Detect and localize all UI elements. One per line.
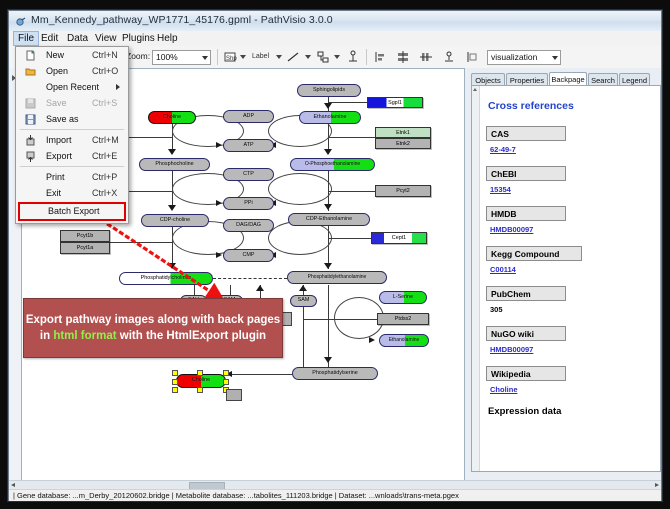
file-menu-item-save-as[interactable]: Save as	[16, 111, 128, 127]
file-menu-accel-new: Ctrl+N	[92, 50, 118, 60]
node-cdp-ethanolamine[interactable]: CDP-Ethanolamine	[288, 213, 370, 226]
annotation-callout: Export pathway images along with back pa…	[23, 298, 283, 358]
xref-value-hmdb[interactable]: HMDB00097	[490, 225, 654, 234]
file-menu-item-export[interactable]: Export Ctrl+E	[16, 148, 128, 164]
pathvisio-window: Mm_Kennedy_pathway_WP1771_45176.gpml - P…	[8, 10, 662, 501]
arc-right-3	[268, 221, 332, 255]
node-sphingolipids[interactable]: Sphingolipids	[297, 84, 361, 97]
file-menu-item-exit[interactable]: Exit Ctrl+X	[16, 185, 128, 201]
file-menu-item-import[interactable]: Import Ctrl+M	[16, 132, 128, 148]
file-menu-separator-1	[20, 129, 124, 130]
file-menu-item-new[interactable]: New Ctrl+N	[16, 47, 128, 63]
node-o-phosphoethanolamine[interactable]: O-Phosphoethanolamine	[290, 158, 375, 171]
node-cdp-choline[interactable]: CDP-choline	[141, 214, 209, 227]
arrow-down-2	[168, 205, 176, 211]
save-icon	[25, 98, 36, 109]
anchor-box-2	[226, 389, 242, 401]
arrow-down-r2	[324, 149, 332, 155]
arrow-to-atp	[216, 142, 222, 148]
node-ctp[interactable]: CTP	[223, 168, 274, 181]
arrow-down-r1	[324, 103, 332, 109]
edge-sah-stub	[194, 285, 195, 295]
status-bar: | Gene database: ...m_Derby_20120602.bri…	[9, 489, 661, 501]
gene-pcyt1b[interactable]: Pcyt1b	[60, 230, 110, 242]
shape-tool-icon[interactable]: Shp	[223, 50, 237, 64]
arrow-to-etn2	[369, 337, 375, 343]
file-menu-label-exit: Exit	[46, 188, 61, 198]
interaction-tool-icon[interactable]	[316, 50, 330, 64]
xref-value-wikipedia[interactable]: Choline	[490, 385, 654, 394]
xref-label-kegg: Kegg Compound	[486, 246, 582, 261]
arrow-up-ps-pe	[299, 285, 307, 291]
file-menu-label-open: Open	[46, 66, 68, 76]
xref-label-hmdb: HMDB	[486, 206, 566, 221]
shape-tool-chevron-icon[interactable]	[240, 55, 246, 59]
node-ppi[interactable]: PPi	[223, 197, 274, 210]
chevron-right-icon	[116, 84, 120, 90]
selection-handle-nw[interactable]	[172, 370, 178, 376]
selection-handle-sw[interactable]	[172, 387, 178, 393]
toolbar-separator	[217, 49, 218, 65]
file-menu-item-open[interactable]: Open Ctrl+O	[16, 63, 128, 79]
svg-text:Shp: Shp	[226, 56, 237, 62]
open-folder-icon	[25, 66, 36, 77]
file-menu-label-export: Export	[46, 151, 72, 161]
file-menu-accel-import: Ctrl+M	[92, 135, 119, 145]
node-dag-dag[interactable]: DAG/DAG	[223, 219, 274, 232]
node-phosphatidylcholines[interactable]: Phosphatidylcholines	[119, 272, 213, 285]
zoom-label: Zoom:	[126, 51, 150, 61]
edge-sgpl1-link	[328, 102, 368, 103]
file-menu-accel-open: Ctrl+O	[92, 66, 118, 76]
gene-etnk1[interactable]: Etnk1	[375, 127, 431, 138]
file-menu-label-batch-export: Batch Export	[48, 206, 100, 216]
toolbar-separator-2	[366, 49, 367, 65]
xref-value-chebi[interactable]: 15354	[490, 185, 654, 194]
arrow-to-ppi	[216, 200, 222, 206]
menu-edit[interactable]: Edit	[37, 32, 62, 45]
align-right-icon[interactable]	[465, 50, 479, 64]
menu-bar: File Edit Data View Plugins Help	[9, 31, 661, 47]
align-middle-icon[interactable]	[419, 50, 433, 64]
visualization-value: visualization	[491, 52, 537, 62]
xref-value-cas[interactable]: 62-49-7	[490, 145, 654, 154]
node-l-serine[interactable]: L-Serine	[379, 291, 427, 304]
arrow-down-r4	[324, 263, 332, 269]
align-bottom-icon[interactable]	[442, 50, 456, 64]
node-cmp[interactable]: CMP	[223, 249, 274, 262]
xref-label-nugo: NuGO wiki	[486, 326, 566, 341]
callout-highlight: html format	[53, 330, 116, 342]
visualization-combo[interactable]: visualization	[487, 50, 561, 65]
node-choline-top[interactable]: Choline	[148, 111, 196, 124]
file-menu-label-save-as: Save as	[46, 114, 79, 124]
edge-ps-back	[303, 307, 304, 369]
file-menu-label-import: Import	[46, 135, 72, 145]
file-menu-label-open-recent: Open Recent	[46, 82, 99, 92]
anchor-tool-icon[interactable]	[346, 50, 360, 64]
gene-cept1[interactable]: Cept1	[371, 232, 427, 244]
node-choline-selected[interactable]: Choline	[176, 374, 226, 388]
file-menu-accel-export: Ctrl+E	[92, 151, 117, 161]
arrow-up-pc	[256, 285, 264, 291]
export-icon	[25, 151, 36, 162]
callout-text-after: with the HtmlExport plugin	[117, 330, 267, 342]
file-menu-item-open-recent[interactable]: Open Recent	[16, 79, 128, 95]
scroll-right-icon[interactable]	[655, 483, 659, 487]
interaction-tool-chevron-icon[interactable]	[334, 55, 340, 59]
tab-backpage[interactable]: Backpage	[549, 72, 587, 86]
screenshot-frame: Mm_Kennedy_pathway_WP1771_45176.gpml - P…	[0, 0, 670, 509]
node-ethanolamine-2[interactable]: Ethanolamine	[379, 334, 429, 347]
window-title: Mm_Kennedy_pathway_WP1771_45176.gpml - P…	[31, 14, 333, 26]
edge-ps-choline	[226, 374, 292, 375]
edge-sam-stub	[230, 285, 231, 295]
selection-handle-n[interactable]	[197, 370, 203, 376]
file-menu-label-new: New	[46, 50, 64, 60]
align-left-icon[interactable]	[373, 50, 387, 64]
file-menu-label-save: Save	[46, 98, 67, 108]
cross-references-heading: Cross references	[488, 100, 654, 112]
side-panel-tabs: Objects Properties Backpage Search Legen…	[471, 72, 659, 86]
expression-data-heading: Expression data	[488, 406, 654, 417]
align-center-icon[interactable]	[396, 50, 410, 64]
selection-handle-e[interactable]	[223, 379, 229, 385]
arrow-down-1	[168, 149, 176, 155]
line-tool-icon[interactable]	[286, 50, 300, 64]
pathvisio-icon	[15, 15, 27, 27]
save-as-icon	[25, 114, 36, 125]
node-adp[interactable]: ADP	[223, 110, 274, 123]
arrow-down-3	[168, 263, 176, 269]
node-phosphatidylserine[interactable]: Phosphatidylserine	[292, 367, 378, 380]
selection-handle-w[interactable]	[172, 379, 178, 385]
line-tool-chevron-icon[interactable]	[305, 55, 311, 59]
file-menu-accel-exit: Ctrl+X	[92, 188, 117, 198]
file-menu-accel-print: Ctrl+P	[92, 172, 117, 182]
xref-value-pubchem: 305	[490, 305, 654, 314]
selection-handle-ne[interactable]	[223, 370, 229, 376]
file-menu-item-print[interactable]: Print Ctrl+P	[16, 169, 128, 185]
node-phosphocholine[interactable]: Phosphocholine	[139, 158, 210, 171]
menu-file[interactable]: File	[13, 31, 39, 46]
edge-pe-ps	[328, 285, 329, 367]
selection-handle-s[interactable]	[197, 387, 203, 393]
xref-label-pubchem: PubChem	[486, 286, 566, 301]
gene-etnk2[interactable]: Etnk2	[375, 138, 431, 149]
window-title-bar: Mm_Kennedy_pathway_WP1771_45176.gpml - P…	[9, 11, 661, 32]
node-ethanolamine[interactable]: Ethanolamine	[299, 111, 361, 124]
chevron-down-icon	[202, 56, 208, 60]
label-tool-label[interactable]: Label	[252, 53, 269, 60]
file-menu-separator-2	[20, 166, 124, 167]
edge-cept1-link	[328, 238, 372, 239]
panel-scrollbar[interactable]	[472, 86, 480, 471]
file-menu-item-batch-export[interactable]: Batch Export	[18, 202, 126, 221]
arrow-down-r3	[324, 204, 332, 210]
edge-etnk-link	[328, 137, 376, 138]
xref-label-chebi: ChEBI	[486, 166, 566, 181]
node-atp[interactable]: ATP	[223, 139, 274, 152]
xref-value-nugo[interactable]: HMDB00097	[490, 345, 654, 354]
xref-value-kegg[interactable]: C00114	[490, 265, 654, 274]
zoom-combo[interactable]: 100%	[152, 50, 211, 65]
gene-ptdss2[interactable]: Ptdss2	[377, 313, 429, 325]
xref-label-cas: CAS	[486, 126, 566, 141]
import-icon	[25, 135, 36, 146]
scroll-left-icon[interactable]	[11, 483, 15, 487]
gene-pcyt1a[interactable]: Pcyt1a	[60, 242, 110, 254]
menu-view[interactable]: View	[91, 32, 121, 45]
node-phosphatidylethanolamine[interactable]: Phosphatidylethanolamine	[287, 271, 387, 284]
gene-pcyt2[interactable]: Pcyt2	[375, 185, 431, 197]
edge-pcyt1-cdpcholine	[110, 242, 172, 243]
zoom-value: 100%	[156, 52, 178, 62]
backpage-panel: Cross references CAS 62-49-7 ChEBI 15354…	[471, 85, 661, 472]
file-menu-dropdown[interactable]: New Ctrl+N Open Ctrl+O Open Recent Save …	[15, 46, 129, 224]
file-menu-accel-save: Ctrl+S	[92, 98, 117, 108]
xref-label-wikipedia: Wikipedia	[486, 366, 566, 381]
label-tool-chevron-icon[interactable]	[276, 55, 282, 59]
edge-pe-pc-dashed	[213, 278, 287, 279]
menu-data[interactable]: Data	[63, 32, 92, 45]
new-file-icon	[25, 50, 36, 61]
side-panel: Objects Properties Backpage Search Legen…	[465, 68, 661, 480]
edge-pcyt2-link	[328, 191, 376, 192]
file-menu-item-save: Save Ctrl+S	[16, 95, 128, 111]
status-text: | Gene database: ...m_Derby_20120602.bri…	[13, 491, 459, 500]
arrow-to-cmp	[216, 252, 222, 258]
menu-help[interactable]: Help	[153, 32, 182, 45]
arc-right-2	[268, 173, 332, 205]
chevron-down-icon-2	[552, 56, 558, 60]
file-menu-label-print: Print	[46, 172, 65, 182]
arrow-down-ps	[324, 357, 332, 363]
gene-sgpl1[interactable]: Sgpl1	[367, 97, 423, 108]
node-sam-right[interactable]: SAM	[290, 295, 317, 307]
backpage-content: Cross references CAS 62-49-7 ChEBI 15354…	[480, 86, 660, 471]
scroll-up-icon[interactable]	[473, 88, 477, 91]
